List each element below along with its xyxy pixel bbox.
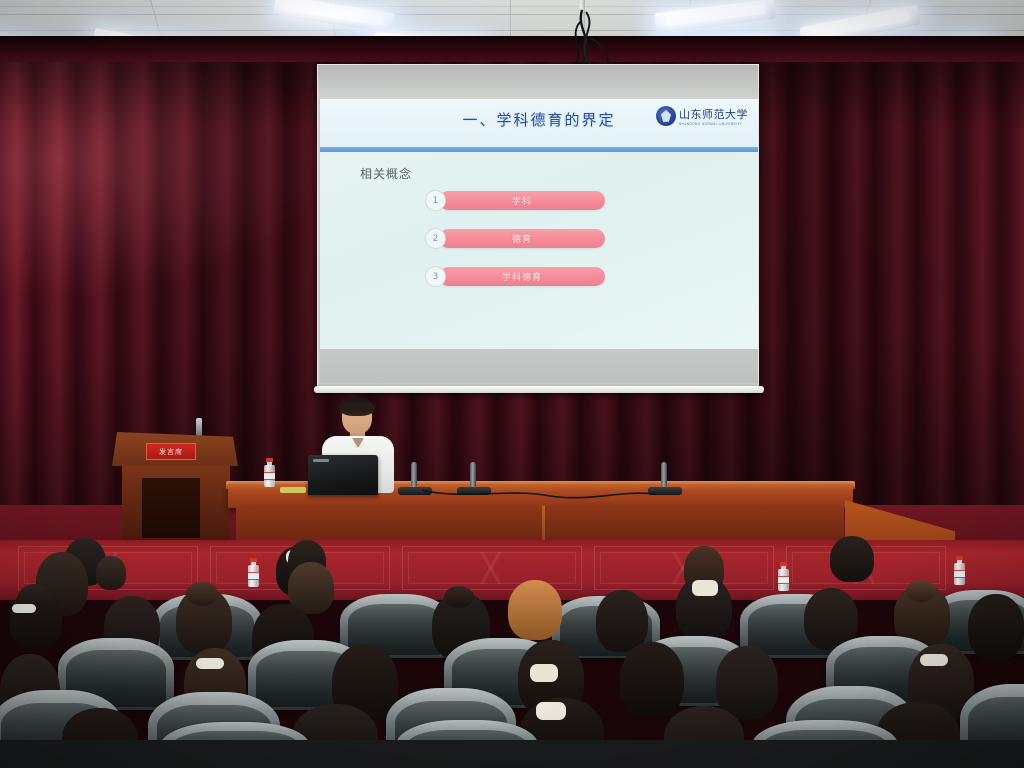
pill-number: 3: [425, 266, 446, 287]
audience-head: [508, 580, 562, 640]
podium-inset-panel: [142, 478, 200, 538]
mic-stem: [661, 462, 667, 488]
mic-cable: [420, 486, 680, 500]
pill-number: 2: [425, 228, 446, 249]
podium-plaque: 发言席: [146, 443, 196, 460]
audience-head: [96, 556, 126, 590]
audience-head: [830, 536, 874, 582]
pill-label: 学科: [439, 191, 605, 210]
hair-bun: [444, 586, 474, 608]
list-item: 学科 1: [425, 191, 705, 210]
screen-top-band: [318, 65, 758, 99]
floor: [0, 740, 1024, 768]
audience-head: [620, 642, 684, 718]
desk-paper: [280, 487, 306, 493]
laptop: [308, 455, 378, 495]
slide-accent-rule: [320, 147, 758, 152]
audience-area: [0, 536, 1024, 768]
audience-head: [716, 646, 778, 720]
university-logo: 山东师范大学 SHANDONG NORMAL UNIVERSITY: [656, 105, 748, 127]
concept-pill-list: 学科 1 德育 2 学科德育 3: [425, 191, 705, 305]
slide-subheading: 相关概念: [360, 165, 412, 182]
hair-clip: [530, 664, 558, 682]
hair-bun: [186, 582, 218, 606]
hair-tie: [12, 604, 36, 613]
screen-bottom-bar: [314, 386, 764, 393]
pill-label: 德育: [439, 229, 605, 248]
lecture-hall-scene: 一、学科德育的界定 山东师范大学 SHANDONG NORMAL UNIVERS…: [0, 0, 1024, 768]
audience-head: [968, 594, 1024, 660]
bottle-label: [264, 472, 275, 480]
mic-stem: [470, 462, 476, 488]
podium: 发言席: [112, 432, 238, 540]
audience-head: [596, 590, 648, 652]
hair-clip: [536, 702, 566, 720]
hair-tie: [196, 658, 224, 669]
hair-tie: [920, 654, 948, 666]
laptop-lid: [308, 455, 378, 495]
mic-stem: [411, 462, 417, 488]
hair-bun: [906, 580, 936, 602]
podium-top: 发言席: [112, 432, 238, 466]
lenovo-logo-icon: [313, 459, 329, 462]
presentation-slide: 一、学科德育的界定 山东师范大学 SHANDONG NORMAL UNIVERS…: [320, 99, 758, 349]
screen-lower-band: [320, 349, 758, 383]
pill-label: 学科德育: [439, 267, 605, 286]
curtain-rail: [0, 36, 1024, 62]
logo-name-en: SHANDONG NORMAL UNIVERSITY: [679, 123, 748, 127]
list-item: 学科德育 3: [425, 267, 705, 286]
logo-text-block: 山东师范大学 SHANDONG NORMAL UNIVERSITY: [679, 105, 748, 127]
university-crest-icon: [656, 106, 676, 126]
pill-number: 1: [425, 190, 446, 211]
speaker-hair: [340, 398, 374, 416]
list-item: 德育 2: [425, 229, 705, 248]
projection-screen: 一、学科德育的界定 山东师范大学 SHANDONG NORMAL UNIVERS…: [317, 64, 759, 388]
hair-clip: [692, 580, 718, 596]
podium-microphone: [196, 418, 202, 436]
logo-name-cn: 山东师范大学: [679, 108, 748, 121]
